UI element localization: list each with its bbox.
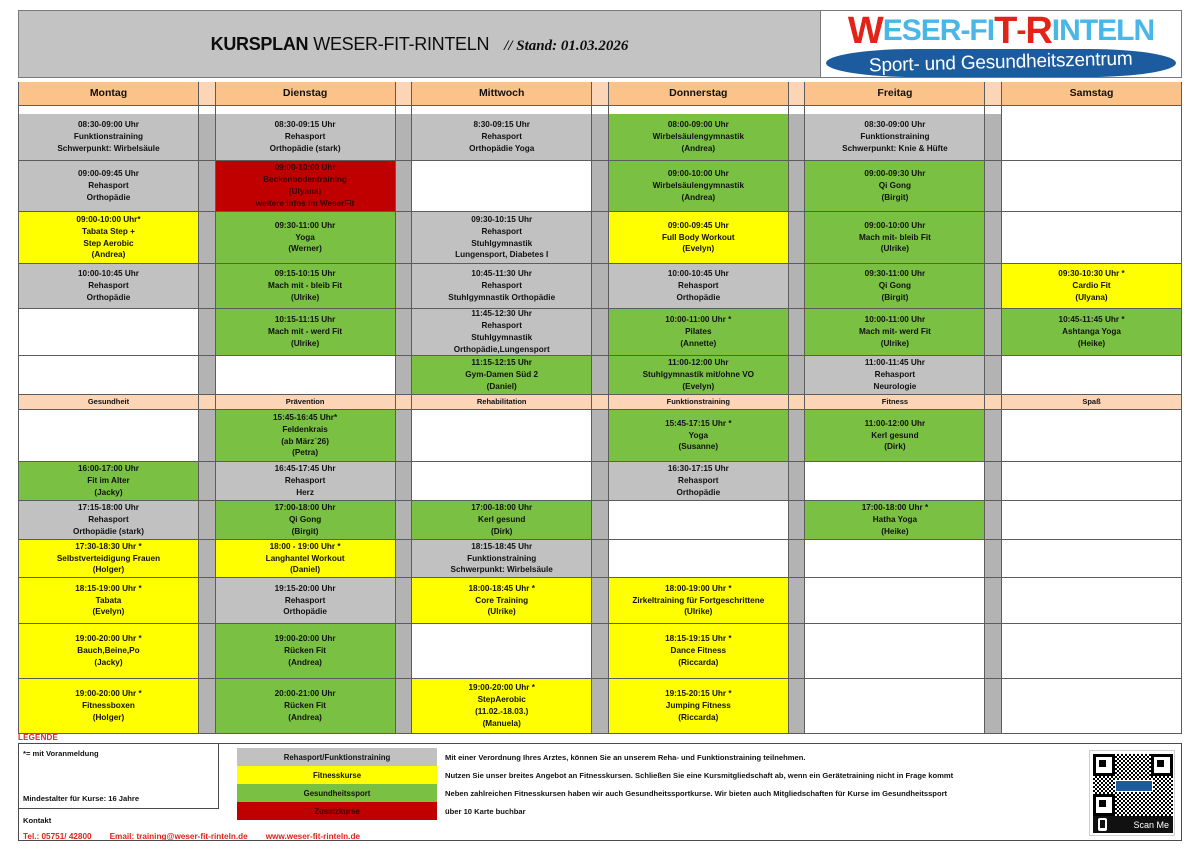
course-cell[interactable]: 19:00-20:00 Uhr *Fitnessboxen(Holger) (19, 679, 199, 734)
course-name: Qi Gong (807, 280, 982, 292)
course-cell[interactable]: 11:00-12:00 UhrStuhlgymnastik mit/ohne V… (609, 356, 789, 395)
course-name: Funktionstraining (807, 131, 982, 143)
schedule-row: 17:30-18:30 Uhr *Selbstverteidigung Frau… (19, 540, 1182, 578)
column-separator (199, 82, 216, 106)
course-time: 09:00-09:45 Uhr (611, 220, 786, 232)
column-separator (789, 106, 806, 114)
empty-cell (805, 578, 985, 624)
course-name: Kerl gesund (807, 430, 982, 442)
course-name: Qi Gong (218, 514, 393, 526)
column-separator (789, 161, 806, 212)
course-cell[interactable]: 16:00-17:00 UhrFit im Alter(Jacky) (19, 462, 199, 501)
course-cell[interactable]: 19:00-20:00 Uhr *StepAerobic(11.02.-18.0… (412, 679, 592, 734)
course-cell[interactable]: 09:00-10:00 UhrMach mit- bleib Fit(Ulrik… (805, 212, 985, 264)
course-time: 08:30-09:15 Uhr (218, 119, 393, 131)
course-name: Rehasport (611, 280, 786, 292)
legend-website[interactable]: www.weser-fit-rinteln.de (266, 832, 360, 841)
column-separator (789, 578, 806, 624)
spacer-cell (412, 106, 592, 114)
legend-swatch-label: Rehasport/Funktionstraining (284, 753, 391, 762)
course-name: Orthopädie (21, 292, 196, 304)
category-label-4: Fitness (805, 395, 985, 410)
course-cell[interactable]: 16:45-17:45 UhrRehasportHerz (216, 462, 396, 501)
spacer-cell (19, 106, 199, 114)
column-separator (199, 114, 216, 161)
course-time: 10:45-11:30 Uhr (414, 268, 589, 280)
day-header-label: Samstag (1004, 86, 1179, 101)
column-separator (199, 501, 216, 540)
column-separator (789, 309, 806, 356)
course-instructor: (Petra) (218, 447, 393, 459)
course-cell[interactable]: 19:15-20:00 UhrRehasportOrthopädie (216, 578, 396, 624)
course-time: 19:00-20:00 Uhr (218, 633, 393, 645)
column-separator (396, 114, 413, 161)
empty-cell (1002, 212, 1182, 264)
legend-email[interactable]: Email: training@weser-fit-rinteln.de (110, 832, 248, 841)
column-separator (199, 679, 216, 734)
course-time: 18:15-19:00 Uhr * (21, 583, 196, 595)
empty-cell (609, 540, 789, 578)
course-cell[interactable]: 17:30-18:30 Uhr *Selbstverteidigung Frau… (19, 540, 199, 578)
course-instructor: (Andrea) (218, 657, 393, 669)
legend-contact-line: Tel.: 05751/ 42800Email: training@weser-… (23, 832, 378, 841)
course-cell[interactable]: 10:00-11:00 UhrMach mit- werd Fit(Ulrike… (805, 309, 985, 356)
column-separator (592, 679, 609, 734)
course-name: Qi Gong (807, 180, 982, 192)
schedule-row: 08:30-09:00 UhrFunktionstrainingSchwerpu… (19, 114, 1182, 161)
course-cell[interactable]: 10:45-11:45 Uhr *Ashtanga Yoga(Heike) (1002, 309, 1182, 356)
course-name: Rücken Fit (218, 645, 393, 657)
column-separator (199, 309, 216, 356)
column-separator (592, 106, 609, 114)
column-separator (396, 161, 413, 212)
legend-section: LEGENDE *= mit Voranmeldung Mindestalter… (18, 733, 1182, 841)
course-cell[interactable]: 08:30-09:00 UhrFunktionstrainingSchwerpu… (19, 114, 199, 161)
category-label-5: Spaß (1002, 395, 1182, 410)
course-name: Rehasport (218, 475, 393, 487)
course-time: 08:30-09:00 Uhr (807, 119, 982, 131)
column-separator (789, 501, 806, 540)
course-name: Lungensport, Diabetes I (414, 249, 589, 261)
column-separator (985, 114, 1002, 161)
legend-swatch-label: Zusatzkurse (314, 807, 360, 816)
empty-cell (805, 540, 985, 578)
course-name: Orthopädie (611, 292, 786, 304)
column-separator (396, 264, 413, 309)
course-name: Rehasport (218, 595, 393, 607)
column-separator (985, 356, 1002, 395)
legend-swatch-label: Fitnesskurse (313, 771, 361, 780)
course-instructor: (Andrea) (611, 192, 786, 204)
course-cell[interactable]: 09:30-11:00 UhrYoga(Werner) (216, 212, 396, 264)
legend-note-mindestalter: Mindestalter für Kurse: 16 Jahre (23, 794, 139, 803)
day-header-donnerstag: Donnerstag (609, 82, 789, 106)
column-separator (199, 395, 216, 410)
day-header-montag: Montag (19, 82, 199, 106)
course-cell[interactable]: 09:30-10:15 UhrRehasportStuhlgymnastikLu… (412, 212, 592, 264)
course-name: Beckenbodentraining (218, 174, 393, 186)
course-time: 09:00-10:00 Uhr (611, 168, 786, 180)
course-cell[interactable]: 09:00-09:45 UhrRehasportOrthopädie (19, 161, 199, 212)
course-name: Rücken Fit (218, 700, 393, 712)
course-name: Pilates (611, 326, 786, 338)
empty-cell (1002, 679, 1182, 734)
course-name: Feldenkrais (218, 424, 393, 436)
course-cell[interactable]: 15:45-16:45 Uhr*Feldenkrais(ab März´26)(… (216, 410, 396, 462)
column-separator (592, 578, 609, 624)
course-name: Rehasport (414, 320, 589, 332)
category-label: Gesundheit (21, 397, 196, 408)
course-name: Stuhlgymnastik (414, 332, 589, 344)
legend-tel[interactable]: Tel.: 05751/ 42800 (23, 832, 92, 841)
column-separator (985, 161, 1002, 212)
course-time: 18:15-18:45 Uhr (414, 541, 589, 553)
course-instructor: (Susanne) (611, 441, 786, 453)
course-cell[interactable]: 10:15-11:15 UhrMach mit - werd Fit(Ulrik… (216, 309, 396, 356)
course-time: 16:30-17:15 Uhr (611, 463, 786, 475)
course-time: 17:00-18:00 Uhr * (807, 502, 982, 514)
course-name: Schwerpunkt: Wirbelsäule (414, 564, 589, 576)
course-name: Schwerpunkt: Wirbelsäule (21, 143, 196, 155)
course-instructor: (Jacky) (21, 487, 196, 499)
course-instructor: (Birgit) (807, 192, 982, 204)
course-time: 8:30-09:15 Uhr (414, 119, 589, 131)
course-instructor: (Jacky) (21, 657, 196, 669)
course-name: Dance Fitness (611, 645, 786, 657)
course-name: Neurologie (807, 381, 982, 393)
course-name: (Ulyana) (218, 186, 393, 198)
course-cell[interactable]: 18:00 - 19:00 Uhr *Langhantel Workout(Da… (216, 540, 396, 578)
course-instructor: (Ulrike) (218, 338, 393, 350)
course-name: Funktionstraining (21, 131, 196, 143)
course-cell[interactable]: 09:00-09:30 UhrQi Gong(Birgit) (805, 161, 985, 212)
course-name: Rehasport (414, 131, 589, 143)
title-stand-date: // Stand: 01.03.2026 (504, 38, 628, 54)
logo-banner: Sport- und Gesundheitszentrum (826, 49, 1176, 77)
day-header-row: MontagDienstagMittwochDonnerstagFreitagS… (19, 82, 1182, 106)
column-separator (789, 462, 806, 501)
course-cell[interactable]: 18:15-19:15 Uhr *Dance Fitness(Riccarda) (609, 624, 789, 679)
course-time: 15:45-16:45 Uhr* (218, 412, 393, 424)
course-cell[interactable]: 09:00-10:00 Uhr*Tabata Step +Step Aerobi… (19, 212, 199, 264)
grid-spacer (19, 106, 1182, 114)
column-separator (199, 624, 216, 679)
course-cell[interactable]: 19:15-20:15 Uhr *Jumping Fitness(Riccard… (609, 679, 789, 734)
column-separator (592, 501, 609, 540)
empty-cell (1002, 462, 1182, 501)
logo-wordmark: WESER-FIT-RINTELN (848, 12, 1154, 50)
course-cell[interactable]: 09:00-10:00 UhrWirbelsäulengymnastik(And… (609, 161, 789, 212)
column-separator (396, 212, 413, 264)
legend-body: *= mit Voranmeldung Mindestalter für Kur… (18, 743, 1182, 841)
course-name: Orthopädie (218, 606, 393, 618)
course-name: Cardio Fit (1004, 280, 1179, 292)
column-separator (985, 212, 1002, 264)
legend-description-column: Mit einer Verordnung Ihres Arztes, könne… (437, 744, 1181, 840)
column-separator (396, 540, 413, 578)
category-label: Prävention (218, 397, 393, 408)
course-cell[interactable]: 16:30-17:15 UhrRehasportOrthopädie (609, 462, 789, 501)
course-cell[interactable]: 18:15-19:00 Uhr *Tabata(Evelyn) (19, 578, 199, 624)
empty-cell (1002, 410, 1182, 462)
column-separator (985, 679, 1002, 734)
course-name: Fit im Alter (21, 475, 196, 487)
column-separator (396, 578, 413, 624)
course-cell[interactable]: 08:30-09:15 UhrRehasportOrthopädie (star… (216, 114, 396, 161)
course-time: 20:00-21:00 Uhr (218, 688, 393, 700)
column-separator (592, 624, 609, 679)
column-separator (199, 212, 216, 264)
course-name: Orthopädie Yoga (414, 143, 589, 155)
course-name: StepAerobic (414, 694, 589, 706)
course-instructor: (Evelyn) (21, 606, 196, 618)
column-separator (592, 82, 609, 106)
column-separator (396, 395, 413, 410)
column-separator (199, 540, 216, 578)
column-separator (396, 82, 413, 106)
category-label-1: Prävention (216, 395, 396, 410)
course-name: Rehasport (611, 475, 786, 487)
course-time: 10:00-11:00 Uhr (807, 314, 982, 326)
course-cell[interactable]: 10:00-10:45 UhrRehasportOrthopädie (19, 264, 199, 309)
legend-swatch-3: Zusatzkurse (237, 802, 437, 820)
column-separator (199, 106, 216, 114)
course-name: Fitnessboxen (21, 700, 196, 712)
column-separator (592, 309, 609, 356)
course-time: 19:00-20:00 Uhr * (414, 682, 589, 694)
course-time: 09:00-10:00 Uhr* (21, 214, 196, 226)
course-time: 19:00-20:00 Uhr * (21, 688, 196, 700)
schedule-row: 09:00-09:45 UhrRehasportOrthopädie09:00-… (19, 161, 1182, 212)
course-cell[interactable]: 10:45-11:30 UhrRehasportStuhlgymnastik O… (412, 264, 592, 309)
course-cell[interactable]: 15:45-17:15 Uhr *Yoga(Susanne) (609, 410, 789, 462)
column-separator (396, 309, 413, 356)
column-separator (985, 309, 1002, 356)
schedule-row: 15:45-16:45 Uhr*Feldenkrais(ab März´26)(… (19, 410, 1182, 462)
course-time: 10:00-11:00 Uhr * (611, 314, 786, 326)
schedule-row: 19:00-20:00 Uhr *Fitnessboxen(Holger)20:… (19, 679, 1182, 734)
legend-description-2: Neben zahlreichen Fitnesskursen haben wi… (445, 784, 1181, 802)
course-name: Funktionstraining (414, 553, 589, 565)
course-cell[interactable]: 08:30-09:00 UhrFunktionstrainingSchwerpu… (805, 114, 985, 161)
course-time: 09:30-10:15 Uhr (414, 214, 589, 226)
legend-swatch-2: Gesundheitssport (237, 784, 437, 802)
column-separator (592, 395, 609, 410)
course-time: 18:15-19:15 Uhr * (611, 633, 786, 645)
schedule-row: 11:15-12:15 UhrGym-Damen Süd 2(Daniel)11… (19, 356, 1182, 395)
page-title: KURSPLAN WESER-FIT-RINTELN // Stand: 01.… (19, 11, 821, 77)
course-cell[interactable]: 09:30-11:00 UhrQi Gong(Birgit) (805, 264, 985, 309)
qr-code-image (1093, 754, 1173, 816)
category-label: Rehabilitation (414, 397, 589, 408)
course-name: Orthopädie (611, 487, 786, 499)
course-time: 10:00-10:45 Uhr (611, 268, 786, 280)
empty-cell (19, 356, 199, 395)
column-separator (789, 212, 806, 264)
course-instructor: (Dirk) (414, 526, 589, 538)
course-cell[interactable]: 11:45-12:30 UhrRehasportStuhlgymnastikOr… (412, 309, 592, 356)
logo-subtitle: Sport- und Gesundheitszentrum (869, 48, 1133, 77)
column-separator (985, 624, 1002, 679)
legend-swatch-0: Rehasport/Funktionstraining (237, 748, 437, 766)
course-cell[interactable]: 09:00-10:00 UhrBeckenbodentraining(Ulyan… (216, 161, 396, 212)
course-time: 18:00 - 19:00 Uhr * (218, 541, 393, 553)
course-cell[interactable]: 10:00-11:00 Uhr *Pilates(Annette) (609, 309, 789, 356)
legend-description-1: Nutzen Sie unser breites Angebot an Fitn… (445, 766, 1181, 784)
course-cell[interactable]: 11:00-12:00 UhrKerl gesund(Dirk) (805, 410, 985, 462)
course-name: Rehasport (21, 514, 196, 526)
course-cell[interactable]: 11:15-12:15 UhrGym-Damen Süd 2(Daniel) (412, 356, 592, 395)
course-name: Ashtanga Yoga (1004, 326, 1179, 338)
course-instructor: (Ulrike) (218, 292, 393, 304)
schedule-row: 17:15-18:00 UhrRehasportOrthopädie (star… (19, 501, 1182, 540)
column-separator (592, 114, 609, 161)
course-instructor: (Daniel) (414, 381, 589, 393)
column-separator (985, 501, 1002, 540)
course-cell[interactable]: 17:00-18:00 UhrKerl gesund(Dirk) (412, 501, 592, 540)
course-name: Mach mit - bleib Fit (218, 280, 393, 292)
course-cell[interactable]: 18:00-19:00 Uhr *Zirkeltraining für Fort… (609, 578, 789, 624)
page-header: KURSPLAN WESER-FIT-RINTELN // Stand: 01.… (18, 10, 1182, 78)
day-header-label: Mittwoch (414, 86, 589, 101)
course-cell[interactable]: 20:00-21:00 UhrRücken Fit(Andrea) (216, 679, 396, 734)
legend-note-voranmeldung: *= mit Voranmeldung (23, 749, 99, 758)
legend-swatch-1: Fitnesskurse (237, 766, 437, 784)
day-header-freitag: Freitag (805, 82, 985, 106)
course-cell[interactable]: 19:00-20:00 UhrRücken Fit(Andrea) (216, 624, 396, 679)
course-instructor: (Andrea) (611, 143, 786, 155)
column-separator (592, 410, 609, 462)
course-time: 16:45-17:45 Uhr (218, 463, 393, 475)
course-instructor: (Holger) (21, 712, 196, 724)
empty-cell (19, 309, 199, 356)
day-header-samstag: Samstag (1002, 82, 1182, 106)
course-cell[interactable]: 08:00-09:00 UhrWirbelsäulengymnastik(And… (609, 114, 789, 161)
schedule-row: 18:15-19:00 Uhr *Tabata(Evelyn)19:15-20:… (19, 578, 1182, 624)
legend-title: LEGENDE (18, 733, 58, 742)
legend-description-text: Neben zahlreichen Fitnesskursen haben wi… (445, 789, 947, 798)
day-header-label: Freitag (807, 86, 982, 101)
schedule-row: 10:00-10:45 UhrRehasportOrthopädie09:15-… (19, 264, 1182, 309)
course-time: 10:15-11:15 Uhr (218, 314, 393, 326)
course-name: Zirkeltraining für Fortgeschrittene (611, 595, 786, 607)
column-separator (789, 356, 806, 395)
column-separator (396, 679, 413, 734)
column-separator (789, 114, 806, 161)
course-instructor: (Birgit) (218, 526, 393, 538)
course-cell[interactable]: 10:00-10:45 UhrRehasportOrthopädie (609, 264, 789, 309)
course-cell[interactable]: 09:15-10:15 UhrMach mit - bleib Fit(Ulri… (216, 264, 396, 309)
course-instructor: (Holger) (21, 564, 196, 576)
empty-cell (412, 410, 592, 462)
course-name: Tabata (21, 595, 196, 607)
course-instructor: (Daniel) (218, 564, 393, 576)
course-cell[interactable]: 18:00-18:45 Uhr *Core Training(Ulrike) (412, 578, 592, 624)
empty-cell (412, 462, 592, 501)
course-cell[interactable]: 09:30-10:30 Uhr *Cardio Fit(Ulyana) (1002, 264, 1182, 309)
course-name: Tabata Step + (21, 226, 196, 238)
course-time: 17:15-18:00 Uhr (21, 502, 196, 514)
empty-cell (412, 624, 592, 679)
qr-code[interactable]: Scan Me (1089, 750, 1175, 836)
legend-description-0: Mit einer Verordnung Ihres Arztes, könne… (445, 748, 1181, 766)
course-name: Rehasport (807, 369, 982, 381)
category-label: Funktionstraining (611, 397, 786, 408)
legend-description-3: über 10 Karte buchbar (445, 802, 1181, 820)
course-cell[interactable]: 09:00-09:45 UhrFull Body Workout(Evelyn) (609, 212, 789, 264)
column-separator (199, 462, 216, 501)
column-separator (396, 624, 413, 679)
course-instructor: (Heike) (807, 526, 982, 538)
course-name: Stuhlgymnastik Orthopädie (414, 292, 589, 304)
course-name: Orthopädie (21, 192, 196, 204)
course-time: 09:00-09:30 Uhr (807, 168, 982, 180)
column-separator (592, 462, 609, 501)
spacer-cell (805, 106, 985, 114)
course-cell[interactable]: 17:15-18:00 UhrRehasportOrthopädie (star… (19, 501, 199, 540)
category-label-3: Funktionstraining (609, 395, 789, 410)
course-instructor: (Riccarda) (611, 712, 786, 724)
course-cell[interactable]: 11:00-11:45 UhrRehasportNeurologie (805, 356, 985, 395)
course-time: 18:00-19:00 Uhr * (611, 583, 786, 595)
course-cell[interactable]: 19:00-20:00 Uhr *Bauch,Beine,Po(Jacky) (19, 624, 199, 679)
course-time: 19:15-20:15 Uhr * (611, 688, 786, 700)
course-name: Rehasport (21, 280, 196, 292)
qr-embedded-logo (1115, 780, 1153, 792)
column-separator (592, 540, 609, 578)
course-cell[interactable]: 17:00-18:00 Uhr *Hatha Yoga(Heike) (805, 501, 985, 540)
column-separator (199, 356, 216, 395)
day-header-mittwoch: Mittwoch (412, 82, 592, 106)
course-instructor: (Birgit) (807, 292, 982, 304)
course-time: 09:15-10:15 Uhr (218, 268, 393, 280)
column-separator (592, 356, 609, 395)
course-instructor: (Ulrike) (611, 606, 786, 618)
legend-description-text: über 10 Karte buchbar (445, 807, 526, 816)
course-time: 08:30-09:00 Uhr (21, 119, 196, 131)
empty-cell (412, 161, 592, 212)
course-name: Mach mit- bleib Fit (807, 232, 982, 244)
course-cell[interactable]: 18:15-18:45 UhrFunktionstrainingSchwerpu… (412, 540, 592, 578)
day-header-label: Montag (21, 86, 196, 101)
course-name: (ab März´26) (218, 436, 393, 448)
course-name: Mach mit - werd Fit (218, 326, 393, 338)
course-instructor: (Andrea) (21, 249, 196, 261)
column-separator (199, 410, 216, 462)
course-cell[interactable]: 8:30-09:15 UhrRehasportOrthopädie Yoga (412, 114, 592, 161)
course-time: 09:30-11:00 Uhr (218, 220, 393, 232)
column-separator (985, 264, 1002, 309)
column-separator (789, 264, 806, 309)
column-separator (199, 264, 216, 309)
legend-swatch-label: Gesundheitssport (304, 789, 371, 798)
course-instructor: (Ulrike) (807, 243, 982, 255)
course-name: Core Training (414, 595, 589, 607)
course-instructor: (Evelyn) (611, 243, 786, 255)
legend-swatch-column: Rehasport/FunktionstrainingFitnesskurseG… (237, 744, 437, 840)
course-name: Yoga (218, 232, 393, 244)
column-separator (789, 540, 806, 578)
brand-logo: WESER-FIT-RINTELN Sport- und Gesundheits… (821, 11, 1181, 77)
empty-cell (805, 462, 985, 501)
column-separator (789, 82, 806, 106)
course-instructor: (Ulrike) (807, 338, 982, 350)
course-time: 17:00-18:00 Uhr (414, 502, 589, 514)
course-name: Wirbelsäulengymnastik (611, 180, 786, 192)
course-cell[interactable]: 17:00-18:00 UhrQi Gong(Birgit) (216, 501, 396, 540)
course-name: Gym-Damen Süd 2 (414, 369, 589, 381)
course-name: Kerl gesund (414, 514, 589, 526)
